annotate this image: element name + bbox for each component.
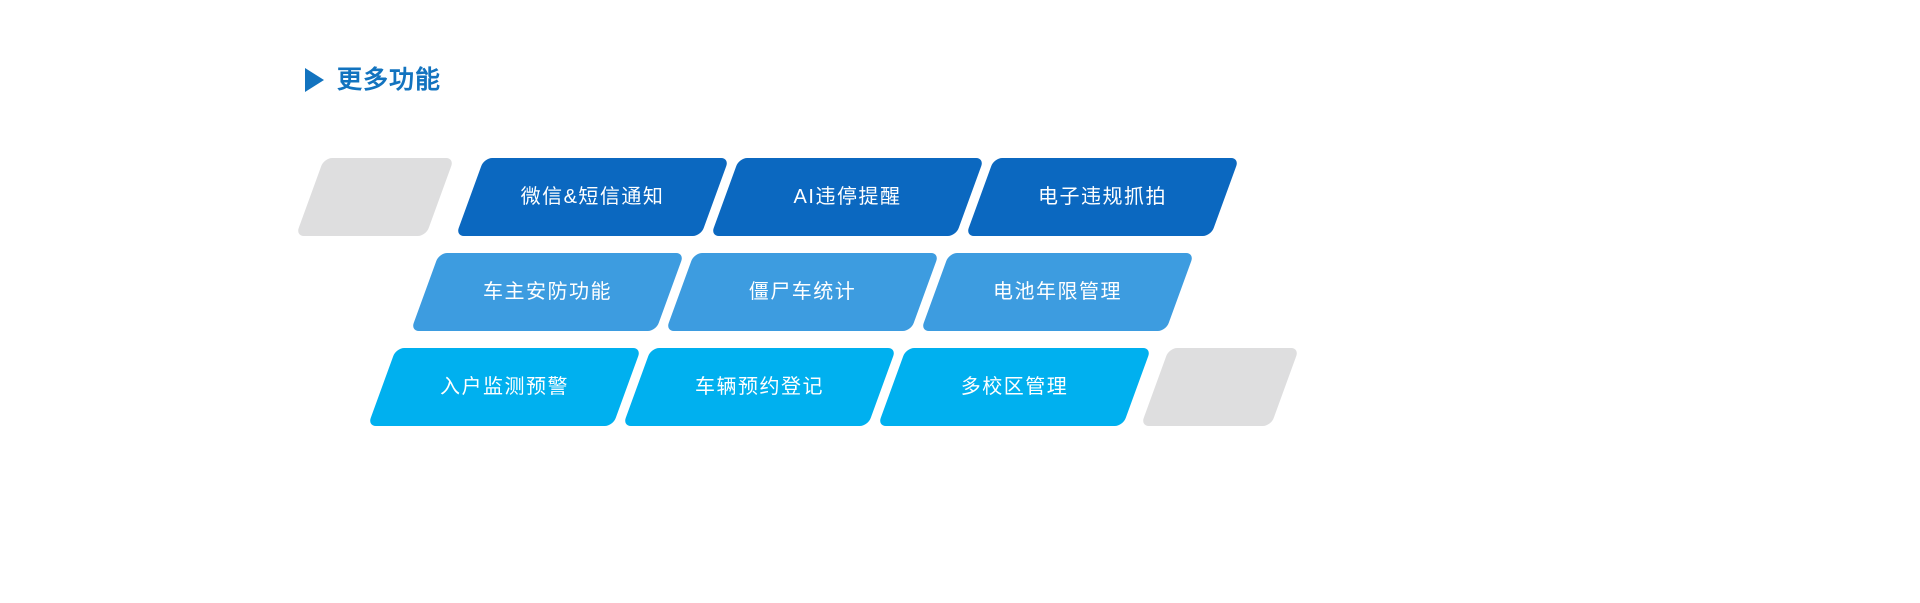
feature-row: 微信&短信通知AI违停提醒电子违规抓拍 bbox=[0, 158, 1920, 236]
section-header: 更多功能 bbox=[305, 63, 441, 97]
feature-grid: 微信&短信通知AI违停提醒电子违规抓拍车主安防功能僵尸车统计电池年限管理入户监测… bbox=[0, 158, 1920, 426]
feature-card[interactable]: 车主安防功能 bbox=[411, 253, 684, 331]
feature-card-label: 多校区管理 bbox=[892, 348, 1137, 426]
feature-card[interactable]: 微信&短信通知 bbox=[456, 158, 729, 236]
feature-card[interactable]: 车辆预约登记 bbox=[623, 348, 896, 426]
feature-card[interactable]: 入户监测预警 bbox=[368, 348, 641, 426]
feature-card[interactable]: AI违停提醒 bbox=[711, 158, 984, 236]
feature-card-label: 电子违规抓拍 bbox=[980, 158, 1225, 236]
page-title: 更多功能 bbox=[337, 68, 441, 93]
feature-card-label: 车主安防功能 bbox=[425, 253, 670, 331]
feature-row: 入户监测预警车辆预约登记多校区管理 bbox=[0, 348, 1920, 426]
slide-canvas: 更多功能 微信&短信通知AI违停提醒电子违规抓拍车主安防功能僵尸车统计电池年限管… bbox=[0, 0, 1920, 603]
feature-card-label: 入户监测预警 bbox=[382, 348, 627, 426]
play-triangle-icon bbox=[305, 68, 324, 92]
decorative-slab-left bbox=[296, 158, 454, 236]
feature-card[interactable]: 多校区管理 bbox=[878, 348, 1151, 426]
feature-card-label: AI违停提醒 bbox=[725, 158, 970, 236]
feature-card-label: 电池年限管理 bbox=[935, 253, 1180, 331]
feature-card[interactable]: 僵尸车统计 bbox=[666, 253, 939, 331]
feature-card[interactable]: 电子违规抓拍 bbox=[966, 158, 1239, 236]
feature-card[interactable]: 电池年限管理 bbox=[921, 253, 1194, 331]
feature-row: 车主安防功能僵尸车统计电池年限管理 bbox=[0, 253, 1920, 331]
decorative-slab-right bbox=[1141, 348, 1299, 426]
feature-card-label: 车辆预约登记 bbox=[637, 348, 882, 426]
feature-card-label: 僵尸车统计 bbox=[680, 253, 925, 331]
feature-card-label: 微信&短信通知 bbox=[470, 158, 715, 236]
